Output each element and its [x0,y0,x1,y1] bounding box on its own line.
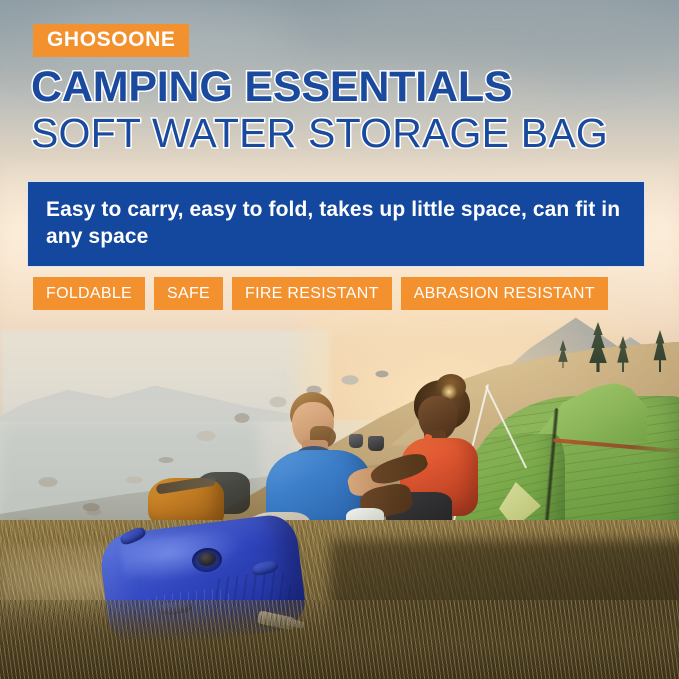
feature-tag-foldable: FOLDABLE [33,277,145,310]
cup-right [368,436,384,451]
headline-block: CAMPING ESSENTIALS SOFT WATER STORAGE BA… [31,66,651,154]
bottom-grass-band [0,600,679,679]
description-text: Easy to carry, easy to fold, takes up li… [28,197,644,251]
feature-tag-fire-resistant: FIRE RESISTANT [232,277,392,310]
description-box: Easy to carry, easy to fold, takes up li… [27,181,645,267]
cup-left [349,434,363,448]
feature-tag-abrasion-resistant: ABRASION RESISTANT [401,277,608,310]
headline-line-2: SOFT WATER STORAGE BAG [31,113,651,154]
headline-line-1: CAMPING ESSENTIALS [31,66,651,109]
feature-tag-list: FOLDABLE SAFE FIRE RESISTANT ABRASION RE… [33,277,608,310]
product-banner: GHOSOONE CAMPING ESSENTIALS SOFT WATER S… [0,0,679,679]
brand-badge: GHOSOONE [33,24,189,57]
feature-tag-safe: SAFE [154,277,223,310]
